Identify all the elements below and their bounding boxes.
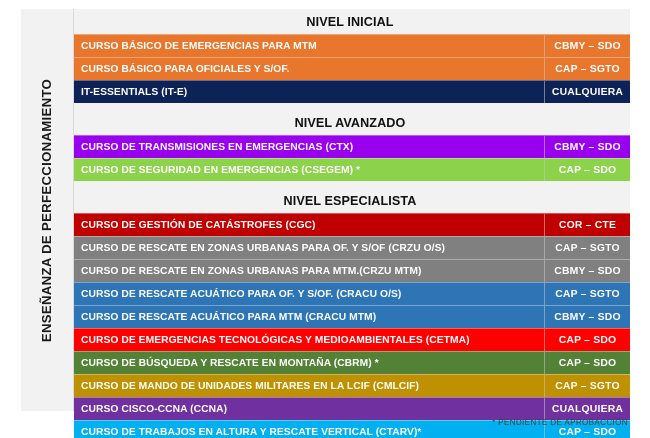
course-row[interactable]: CURSO BÁSICO DE EMERGENCIAS PARA MTMCBMY… <box>74 34 630 57</box>
course-rank-label: CBMY – SDO <box>554 142 620 153</box>
course-name-label: CURSO DE MANDO DE UNIDADES MILITARES EN … <box>81 381 419 392</box>
course-rank-cell: CAP – SGTO <box>544 282 630 305</box>
section-header-row: NIVEL INICIAL <box>74 9 630 34</box>
section-header-row: NIVEL AVANZADO <box>74 110 630 135</box>
course-name-cell: CURSO DE TRANSMISIONES EN EMERGENCIAS (C… <box>74 135 544 158</box>
course-name-label: IT-ESSENTIALS (IT-E) <box>81 87 187 98</box>
course-rank-label: CAP – SDO <box>559 165 617 176</box>
course-row[interactable]: CURSO DE RESCATE ACUÁTICO PARA OF. Y S/O… <box>74 282 630 305</box>
course-name-cell: CURSO DE GESTIÓN DE CATÁSTROFES (CGC) <box>74 213 544 236</box>
course-rank-cell: CAP – SDO <box>544 158 630 181</box>
course-name-cell: CURSO BÁSICO DE EMERGENCIAS PARA MTM <box>74 34 544 57</box>
course-rank-label: CAP – SDO <box>559 335 617 346</box>
course-rank-cell: CAP – SDO <box>544 351 630 374</box>
section-spacer <box>74 103 630 110</box>
course-rank-cell: CUALQUIERA <box>544 397 630 420</box>
vertical-axis-label: ENSEÑANZA DE PERFECCIONAMIENTO <box>21 9 74 411</box>
course-name-label: CURSO DE RESCATE ACUÁTICO PARA MTM (CRAC… <box>81 312 376 323</box>
course-rank-label: CBMY – SDO <box>554 41 620 52</box>
course-rank-cell: CBMY – SDO <box>544 259 630 282</box>
course-name-label: CURSO DE TRANSMISIONES EN EMERGENCIAS (C… <box>81 142 353 153</box>
course-row[interactable]: IT-ESSENTIALS (IT-E)CUALQUIERA <box>74 80 630 103</box>
course-rank-label: CBMY – SDO <box>554 266 620 277</box>
course-name-cell: CURSO DE EMERGENCIAS TECNOLÓGICAS Y MEDI… <box>74 328 544 351</box>
course-rank-cell: CUALQUIERA <box>544 80 630 103</box>
course-name-cell: IT-ESSENTIALS (IT-E) <box>74 80 544 103</box>
course-name-cell: CURSO DE MANDO DE UNIDADES MILITARES EN … <box>74 374 544 397</box>
course-row[interactable]: CURSO CISCO-CCNA (CCNA)CUALQUIERA <box>74 397 630 420</box>
course-rank-label: CUALQUIERA <box>552 404 623 415</box>
course-name-cell: CURSO DE RESCATE EN ZONAS URBANAS PARA O… <box>74 236 544 259</box>
course-row[interactable]: CURSO BÁSICO PARA OFICIALES Y S/OF.CAP –… <box>74 57 630 80</box>
course-name-label: CURSO BÁSICO DE EMERGENCIAS PARA MTM <box>81 41 317 52</box>
course-row[interactable]: CURSO DE EMERGENCIAS TECNOLÓGICAS Y MEDI… <box>74 328 630 351</box>
course-name-cell: CURSO DE TRABAJOS EN ALTURA Y RESCATE VE… <box>74 420 544 438</box>
course-rank-cell: CAP – SGTO <box>544 236 630 259</box>
course-name-label: CURSO DE RESCATE EN ZONAS URBANAS PARA M… <box>81 266 422 277</box>
section-spacer <box>74 181 630 188</box>
course-row[interactable]: CURSO DE GESTIÓN DE CATÁSTROFES (CGC)COR… <box>74 213 630 236</box>
course-name-cell: CURSO DE RESCATE ACUÁTICO PARA MTM (CRAC… <box>74 305 544 328</box>
course-name-label: CURSO DE GESTIÓN DE CATÁSTROFES (CGC) <box>81 220 316 231</box>
course-row[interactable]: CURSO DE RESCATE EN ZONAS URBANAS PARA O… <box>74 236 630 259</box>
course-name-cell: CURSO DE BÚSQUEDA Y RESCATE EN MONTAÑA (… <box>74 351 544 374</box>
course-name-label: CURSO CISCO-CCNA (CCNA) <box>81 404 227 415</box>
course-rank-label: CAP – SGTO <box>555 381 620 392</box>
course-name-label: CURSO BÁSICO PARA OFICIALES Y S/OF. <box>81 64 289 75</box>
course-rank-label: CAP – SDO <box>559 427 617 438</box>
course-row[interactable]: CURSO DE RESCATE ACUÁTICO PARA MTM (CRAC… <box>74 305 630 328</box>
course-row[interactable]: CURSO DE RESCATE EN ZONAS URBANAS PARA M… <box>74 259 630 282</box>
course-rank-cell: CAP – SDO <box>544 328 630 351</box>
course-name-label: CURSO DE RESCATE ACUÁTICO PARA OF. Y S/O… <box>81 289 401 300</box>
diagram-page: ENSEÑANZA DE PERFECCIONAMIENTO NIVEL INI… <box>0 0 650 438</box>
course-name-label: CURSO DE RESCATE EN ZONAS URBANAS PARA O… <box>81 243 445 254</box>
course-name-cell: CURSO CISCO-CCNA (CCNA) <box>74 397 544 420</box>
section-title: NIVEL ESPECIALISTA <box>74 194 630 208</box>
course-rank-cell: CAP – SGTO <box>544 57 630 80</box>
course-row[interactable]: CURSO DE BÚSQUEDA Y RESCATE EN MONTAÑA (… <box>74 351 630 374</box>
course-rank-label: CAP – SGTO <box>555 289 620 300</box>
course-rank-label: CUALQUIERA <box>552 87 623 98</box>
course-name-cell: CURSO BÁSICO PARA OFICIALES Y S/OF. <box>74 57 544 80</box>
course-row[interactable]: CURSO DE TRANSMISIONES EN EMERGENCIAS (C… <box>74 135 630 158</box>
course-name-cell: CURSO DE SEGURIDAD EN EMERGENCIAS (CSEGE… <box>74 158 544 181</box>
course-name-label: CURSO DE SEGURIDAD EN EMERGENCIAS (CSEGE… <box>81 165 360 176</box>
course-rank-cell: CAP – SGTO <box>544 374 630 397</box>
courses-table: NIVEL INICIALCURSO BÁSICO DE EMERGENCIAS… <box>74 9 630 411</box>
section-header-row: NIVEL ESPECIALISTA <box>74 188 630 213</box>
course-rank-label: CAP – SGTO <box>555 64 620 75</box>
vertical-axis-label-text: ENSEÑANZA DE PERFECCIONAMIENTO <box>40 78 55 341</box>
course-row[interactable]: CURSO DE SEGURIDAD EN EMERGENCIAS (CSEGE… <box>74 158 630 181</box>
course-name-cell: CURSO DE RESCATE EN ZONAS URBANAS PARA M… <box>74 259 544 282</box>
course-name-cell: CURSO DE RESCATE ACUÁTICO PARA OF. Y S/O… <box>74 282 544 305</box>
section-title: NIVEL INICIAL <box>74 15 630 29</box>
course-rank-label: CBMY – SDO <box>554 312 620 323</box>
course-name-label: CURSO DE TRABAJOS EN ALTURA Y RESCATE VE… <box>81 427 421 438</box>
course-rank-label: CAP – SDO <box>559 358 617 369</box>
course-rank-cell: CBMY – SDO <box>544 34 630 57</box>
course-rank-cell: CBMY – SDO <box>544 135 630 158</box>
course-rank-label: CAP – SGTO <box>555 243 620 254</box>
course-rank-label: COR – CTE <box>559 220 616 231</box>
course-rank-cell: CBMY – SDO <box>544 305 630 328</box>
course-row[interactable]: CURSO DE MANDO DE UNIDADES MILITARES EN … <box>74 374 630 397</box>
course-name-label: CURSO DE BÚSQUEDA Y RESCATE EN MONTAÑA (… <box>81 358 379 369</box>
course-rank-cell: COR – CTE <box>544 213 630 236</box>
footnote: * PENDIENTE DE APROBACCIÓN <box>492 418 628 427</box>
section-title: NIVEL AVANZADO <box>74 116 630 130</box>
course-name-label: CURSO DE EMERGENCIAS TECNOLÓGICAS Y MEDI… <box>81 335 470 346</box>
